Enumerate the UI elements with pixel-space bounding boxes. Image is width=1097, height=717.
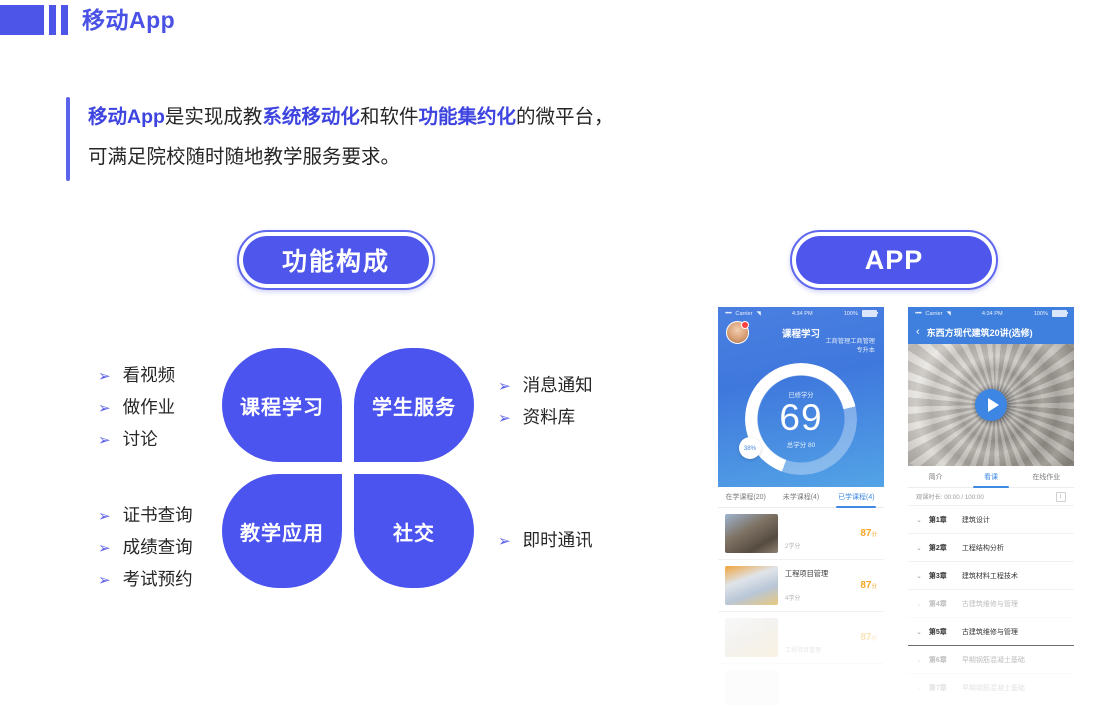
course-thumbnail bbox=[725, 618, 778, 657]
phone2-nav-title: 东西方现代建筑20讲(选修) bbox=[927, 326, 1033, 339]
ring-percent-badge: 38% bbox=[739, 437, 761, 459]
chapter-row[interactable]: ⌄第4章古建筑维修与管理 bbox=[908, 590, 1074, 618]
chapter-name: 建筑材料工程技术 bbox=[962, 571, 1018, 581]
chevron-down-icon[interactable]: ⌄ bbox=[916, 572, 922, 580]
course-score: 87分 bbox=[860, 528, 877, 539]
petal-teaching-app: 教学应用 bbox=[222, 474, 342, 588]
arrow-bullet-icon: ➢ bbox=[98, 425, 111, 456]
bullet-label: 做作业 bbox=[123, 392, 176, 423]
chevron-down-icon[interactable]: ⌄ bbox=[916, 516, 922, 524]
chevron-down-icon[interactable]: ⌄ bbox=[916, 628, 922, 636]
signal-dots-icon: •••• bbox=[725, 311, 731, 317]
arrow-bullet-icon: ➢ bbox=[98, 393, 111, 424]
course-info bbox=[785, 670, 870, 705]
bullet-label: 证书查询 bbox=[123, 500, 193, 531]
carrier-label: Carrier bbox=[735, 311, 752, 317]
course-thumbnail bbox=[725, 670, 778, 705]
course-info: 2学分 bbox=[785, 514, 853, 553]
chapter-number: 第3章 bbox=[929, 571, 955, 581]
arrow-bullet-icon: ➢ bbox=[98, 361, 111, 392]
watch-duration-row: 观课时长: 00:00 / 100:00 bbox=[908, 488, 1074, 506]
chapter-name: 早期钢筋混凝土基础 bbox=[962, 683, 1025, 693]
course-credit: 4学分 bbox=[785, 593, 853, 602]
bullet-label: 资料库 bbox=[523, 402, 576, 433]
back-chevron-icon[interactable]: ‹ bbox=[916, 327, 920, 338]
slide-header: 移动App bbox=[0, 4, 175, 36]
chevron-down-icon[interactable]: ⌄ bbox=[916, 600, 922, 608]
chapter-number: 第7章 bbox=[929, 683, 955, 693]
chapter-name: 古建筑维修与管理 bbox=[962, 599, 1018, 609]
phone1-status-bar: •••• Carrier ◥ 4:34 PM 100% bbox=[718, 307, 884, 320]
bullet-item: ➢消息通知 bbox=[498, 370, 593, 402]
bullet-item: ➢成绩查询 bbox=[98, 532, 193, 564]
course-title: 工程项目管理 bbox=[785, 569, 853, 579]
pill-outer-ring: APP bbox=[790, 230, 998, 290]
major-line-1: 工商管理工商管理 bbox=[826, 337, 876, 346]
chapter-row[interactable]: ⌄第2章工程结构分析 bbox=[908, 534, 1074, 562]
phone1-major-subtitle: 工商管理工商管理 专升本 bbox=[826, 337, 876, 355]
phone1-tab[interactable]: 未学课程(4) bbox=[773, 492, 828, 502]
arrow-bullet-icon: ➢ bbox=[98, 501, 111, 532]
clock-label: 4:34 PM bbox=[792, 311, 813, 317]
chevron-down-icon[interactable]: ⌄ bbox=[916, 684, 922, 692]
intro-plain: 和软件 bbox=[360, 106, 419, 128]
chapter-row[interactable]: ⌄第6章早期钢筋混凝土基础 bbox=[908, 646, 1074, 674]
bullet-label: 讨论 bbox=[123, 424, 158, 455]
intro-highlight: 功能集约化 bbox=[418, 106, 516, 128]
intro-block: 移动App是实现成教系统移动化和软件功能集约化的微平台， 可满足院校随时随地教学… bbox=[66, 97, 613, 181]
pill-label-function: 功能构成 bbox=[243, 236, 429, 284]
phone1-nav-title: 课程学习 bbox=[782, 326, 820, 340]
course-row[interactable] bbox=[718, 664, 884, 705]
chapter-row[interactable]: ⌄第8章建筑材料工程技术 bbox=[908, 702, 1074, 705]
intro-line-2: 可满足院校随时随地教学服务要求。 bbox=[88, 137, 613, 177]
chapter-name: 工程结构分析 bbox=[962, 543, 1004, 553]
course-row[interactable]: 工程项目管理87分 bbox=[718, 612, 884, 664]
arrow-bullet-icon: ➢ bbox=[98, 565, 111, 596]
course-credit: 2学分 bbox=[785, 541, 853, 550]
ring-value: 69 bbox=[779, 399, 822, 437]
bullet-item: ➢做作业 bbox=[98, 392, 175, 424]
phone1-hero: •••• Carrier ◥ 4:34 PM 100% 课程学习 工商管理工商管… bbox=[718, 307, 884, 487]
phone1-course-list: 2学分87分工程项目管理4学分87分工程项目管理87分 bbox=[718, 508, 884, 705]
chapter-list: ⌄第1章建筑设计⌄第2章工程结构分析⌄第3章建筑材料工程技术⌄第4章古建筑维修与… bbox=[908, 506, 1074, 705]
bullet-label: 成绩查询 bbox=[123, 532, 193, 563]
phone2-tab-bar: 简介看课在线作业 bbox=[908, 466, 1074, 488]
bullet-list-left-bottom: ➢证书查询➢成绩查询➢考试预约 bbox=[98, 500, 193, 596]
chapter-number: 第6章 bbox=[929, 655, 955, 665]
intro-text: 移动App是实现成教系统移动化和软件功能集约化的微平台， 可满足院校随时随地教学… bbox=[88, 97, 613, 181]
arrow-bullet-icon: ➢ bbox=[498, 371, 511, 402]
phone2-header: •••• Carrier ◥ 4:34 PM 100% ‹ 东西方现代建筑20讲… bbox=[908, 307, 1074, 344]
phone2-tab[interactable]: 看课 bbox=[963, 472, 1018, 482]
bullet-label: 消息通知 bbox=[523, 370, 593, 401]
course-score: 87分 bbox=[860, 632, 877, 643]
phone-mockup-course-list: •••• Carrier ◥ 4:34 PM 100% 课程学习 工商管理工商管… bbox=[718, 307, 884, 705]
phone2-tab[interactable]: 简介 bbox=[908, 472, 963, 482]
pill-label-app: APP bbox=[796, 236, 992, 284]
page-title: 移动App bbox=[82, 9, 175, 32]
bullet-item: ➢资料库 bbox=[498, 402, 593, 434]
play-button-icon[interactable] bbox=[975, 389, 1007, 421]
battery-percent-label: 100% bbox=[1034, 311, 1048, 317]
bullet-item: ➢考试预约 bbox=[98, 564, 193, 596]
pill-outer-ring: 功能构成 bbox=[237, 230, 435, 290]
ring-total: 总学分 80 bbox=[787, 439, 816, 449]
arrow-bullet-icon: ➢ bbox=[498, 526, 511, 557]
intro-accent-bar bbox=[66, 97, 70, 181]
chapter-name: 早期钢筋混凝土基础 bbox=[962, 655, 1025, 665]
intro-plain: 的微平台， bbox=[516, 106, 614, 128]
bullet-list-right-top: ➢消息通知➢资料库 bbox=[498, 370, 593, 434]
phone2-status-bar: •••• Carrier ◥ 4:34 PM 100% bbox=[908, 307, 1074, 320]
battery-percent-label: 100% bbox=[844, 311, 858, 317]
slide-canvas: 移动App 移动App是实现成教系统移动化和软件功能集约化的微平台， 可满足院校… bbox=[0, 0, 1097, 717]
chapter-number: 第1章 bbox=[929, 515, 955, 525]
chapter-number: 第4章 bbox=[929, 599, 955, 609]
credit-progress-ring: 已修学分 69 总学分 80 38% bbox=[745, 363, 857, 475]
bullet-item: ➢即时通讯 bbox=[498, 525, 593, 557]
chapter-number: 第2章 bbox=[929, 543, 955, 553]
intro-line-1: 移动App是实现成教系统移动化和软件功能集约化的微平台， bbox=[88, 97, 613, 137]
intro-plain: 是实现成教 bbox=[165, 106, 263, 128]
chapter-row[interactable]: ⌄第7章早期钢筋混凝土基础 bbox=[908, 674, 1074, 702]
avatar[interactable] bbox=[726, 321, 749, 344]
chapter-row[interactable]: ⌄第1章建筑设计 bbox=[908, 506, 1074, 534]
download-icon[interactable] bbox=[1056, 492, 1066, 502]
course-info: 工程项目管理 bbox=[785, 618, 853, 657]
course-score: 87分 bbox=[860, 580, 877, 591]
course-thumbnail bbox=[725, 566, 778, 605]
video-thumbnail[interactable] bbox=[908, 344, 1074, 466]
intro-highlight: 移动App bbox=[88, 106, 165, 128]
signal-dots-icon: •••• bbox=[915, 311, 921, 317]
clock-label: 4:34 PM bbox=[982, 311, 1003, 317]
battery-icon bbox=[862, 310, 877, 317]
bullet-list-left-top: ➢看视频➢做作业➢讨论 bbox=[98, 360, 175, 456]
section-pill-app: APP bbox=[790, 230, 998, 290]
arrow-bullet-icon: ➢ bbox=[98, 533, 111, 564]
course-thumbnail bbox=[725, 514, 778, 553]
header-bar-mark-2 bbox=[61, 5, 68, 35]
bullet-item: ➢证书查询 bbox=[98, 500, 193, 532]
course-credit: 工程项目管理 bbox=[785, 645, 853, 654]
intro-highlight: 系统移动化 bbox=[262, 106, 360, 128]
battery-icon bbox=[1052, 310, 1067, 317]
chapter-name: 古建筑维修与管理 bbox=[962, 627, 1018, 637]
course-row[interactable]: 工程项目管理4学分87分 bbox=[718, 560, 884, 612]
clover-diagram: 课程学习 学生服务 教学应用 社交 bbox=[222, 348, 474, 588]
bullet-label: 看视频 bbox=[123, 360, 176, 391]
phone2-nav-bar: ‹ 东西方现代建筑20讲(选修) bbox=[908, 320, 1074, 344]
phone1-tab[interactable]: 已学课程(4) bbox=[829, 492, 884, 502]
bullet-label: 即时通讯 bbox=[523, 525, 593, 556]
bullet-item: ➢讨论 bbox=[98, 424, 175, 456]
watch-duration-label: 观课时长: 00:00 / 100:00 bbox=[916, 492, 984, 501]
phone1-tab-bar: 在学课程(20)未学课程(4)已学课程(4) bbox=[718, 487, 884, 508]
phone1-tab[interactable]: 在学课程(20) bbox=[718, 492, 773, 502]
carrier-label: Carrier bbox=[925, 311, 942, 317]
arrow-bullet-icon: ➢ bbox=[498, 403, 511, 434]
chapter-row[interactable]: ⌄第3章建筑材料工程技术 bbox=[908, 562, 1074, 590]
petal-social: 社交 bbox=[354, 474, 474, 588]
petal-course-study: 课程学习 bbox=[222, 348, 342, 462]
phone-mockup-course-detail: •••• Carrier ◥ 4:34 PM 100% ‹ 东西方现代建筑20讲… bbox=[908, 307, 1074, 705]
major-line-2: 专升本 bbox=[826, 346, 876, 355]
chapter-number: 第5章 bbox=[929, 627, 955, 637]
chapter-row[interactable]: ⌄第5章古建筑维修与管理 bbox=[908, 618, 1074, 646]
header-bar-mark-1 bbox=[49, 5, 56, 35]
header-square-mark bbox=[0, 5, 44, 35]
chapter-name: 建筑设计 bbox=[962, 515, 990, 525]
wifi-icon: ◥ bbox=[947, 311, 951, 317]
wifi-icon: ◥ bbox=[757, 311, 761, 317]
phone2-tab[interactable]: 在线作业 bbox=[1019, 472, 1074, 482]
bullet-label: 考试预约 bbox=[123, 564, 193, 595]
course-info: 工程项目管理4学分 bbox=[785, 566, 853, 605]
chevron-down-icon[interactable]: ⌄ bbox=[916, 544, 922, 552]
notification-badge-icon bbox=[741, 321, 749, 329]
petal-student-service: 学生服务 bbox=[354, 348, 474, 462]
chevron-down-icon[interactable]: ⌄ bbox=[916, 656, 922, 664]
ring-center: 已修学分 69 总学分 80 bbox=[745, 363, 857, 475]
section-pill-function: 功能构成 bbox=[237, 230, 435, 290]
bullet-list-right-bottom: ➢即时通讯 bbox=[498, 525, 593, 557]
bullet-item: ➢看视频 bbox=[98, 360, 175, 392]
course-row[interactable]: 2学分87分 bbox=[718, 508, 884, 560]
